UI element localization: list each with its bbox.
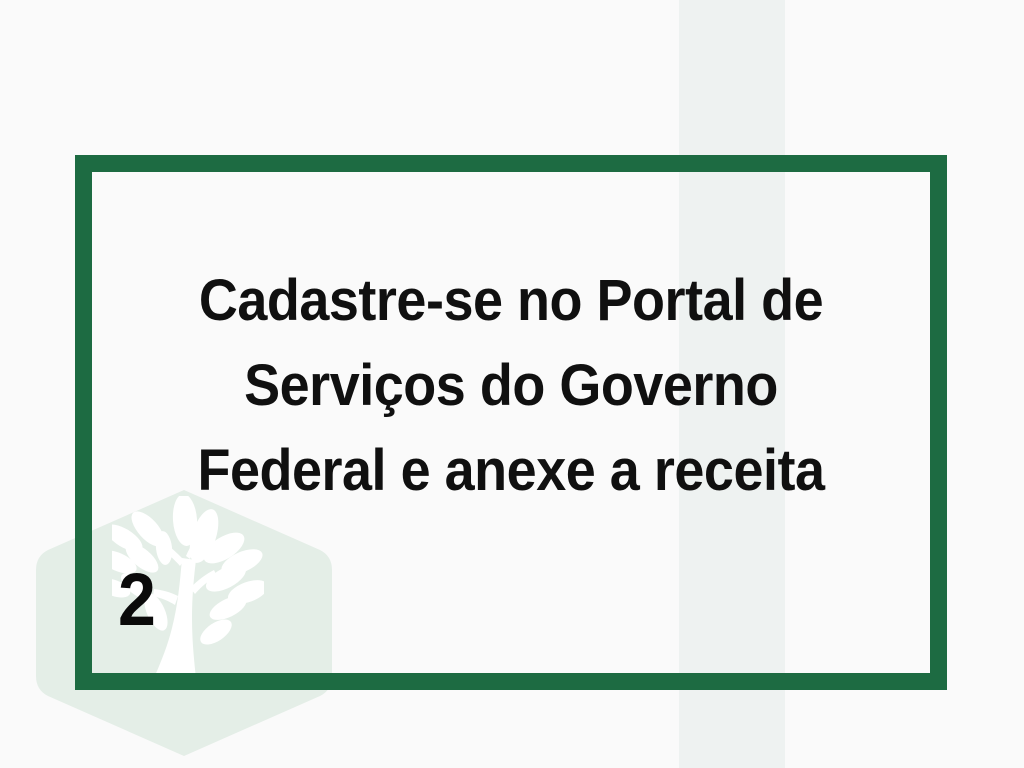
content-frame: Cadastre-se no Portal de Serviços do Gov… bbox=[75, 155, 947, 690]
headline-line-3: Federal e anexe a receita bbox=[121, 428, 900, 513]
frame-inner: Cadastre-se no Portal de Serviços do Gov… bbox=[92, 172, 930, 673]
slide-canvas: Cadastre-se no Portal de Serviços do Gov… bbox=[0, 0, 1024, 768]
step-number: 2 bbox=[118, 563, 156, 637]
page-title: Cadastre-se no Portal de Serviços do Gov… bbox=[121, 258, 900, 513]
headline-line-2: Serviços do Governo bbox=[121, 343, 900, 428]
headline-line-1: Cadastre-se no Portal de bbox=[121, 258, 900, 343]
